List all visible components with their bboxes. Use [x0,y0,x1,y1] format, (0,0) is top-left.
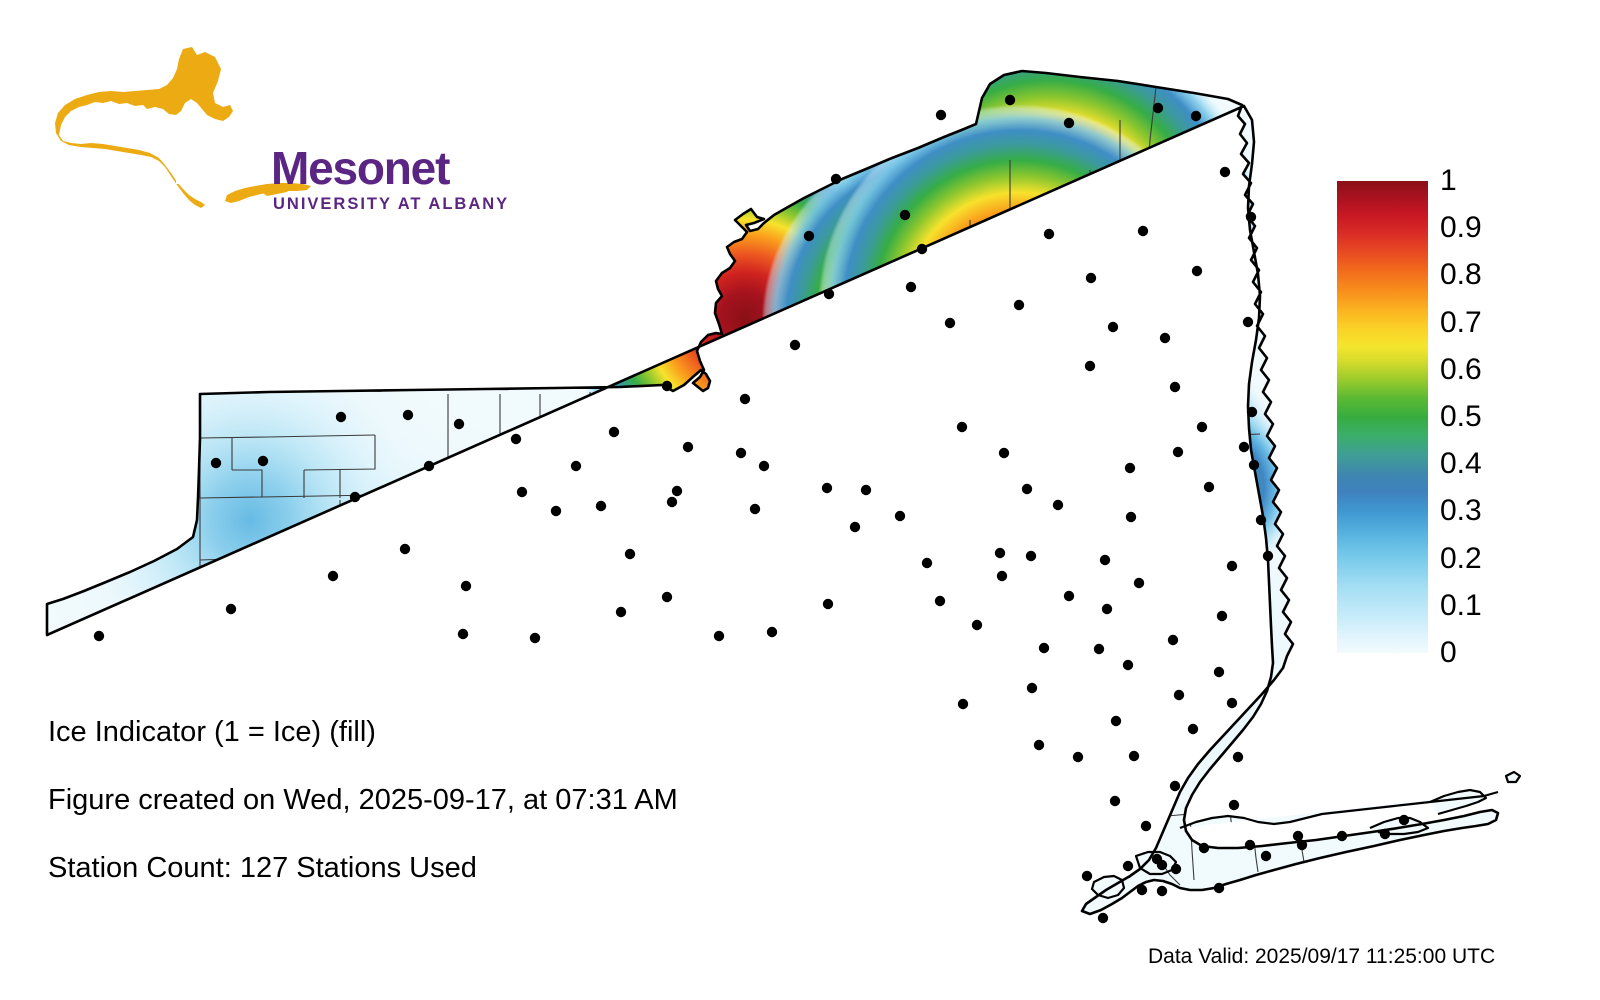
county-border [994,734,1140,740]
county-border [1172,516,1252,520]
station-marker[interactable] [1188,724,1198,734]
county-border [448,497,590,500]
station-marker[interactable] [790,340,800,350]
station-marker[interactable] [1082,871,1092,881]
station-marker[interactable] [714,631,724,641]
station-marker[interactable] [1085,361,1095,371]
station-marker[interactable] [1227,698,1237,708]
county-border [840,453,920,455]
colorbar-tick-0p6: 0.6 [1440,355,1502,385]
station-marker[interactable] [972,620,982,630]
station-marker[interactable] [662,381,672,391]
county-border [590,537,710,540]
station-marker[interactable] [999,448,1009,458]
station-marker[interactable] [1229,800,1239,810]
station-marker[interactable] [1197,422,1207,432]
station-marker[interactable] [767,627,777,637]
station-marker[interactable] [750,504,760,514]
station-marker[interactable] [1191,111,1201,121]
station-marker[interactable] [403,410,413,420]
colorbar-tick-0p4: 0.4 [1440,449,1502,479]
county-border [1094,736,1098,818]
county-border [1060,446,1064,528]
station-marker[interactable] [609,427,619,437]
station-marker[interactable] [596,501,606,511]
station-marker[interactable] [328,571,338,581]
station-marker[interactable] [683,442,693,452]
station-marker[interactable] [350,492,360,502]
station-marker[interactable] [458,629,468,639]
station-marker[interactable] [957,422,967,432]
station-marker[interactable] [759,461,769,471]
station-marker[interactable] [900,210,910,220]
heat-blob-adirondack-west [1000,250,1220,470]
station-marker[interactable] [1199,843,1209,853]
heat-blob-finger-lakes [638,258,962,582]
colorbar-tick-0p7: 0.7 [1440,308,1502,338]
station-marker[interactable] [1022,484,1032,494]
station-marker[interactable] [1247,407,1257,417]
county-border [1010,530,1014,615]
station-marker[interactable] [1153,103,1163,113]
station-marker[interactable] [517,487,527,497]
station-marker[interactable] [1245,840,1255,850]
annotation-variable-label: Ice Indicator (1 = Ice) (fill) [48,718,376,747]
station-marker[interactable] [1214,667,1224,677]
station-marker[interactable] [1026,551,1036,561]
station-marker[interactable] [1064,591,1074,601]
county-border [1140,284,1256,290]
station-marker[interactable] [824,289,834,299]
colorbar-tick-1: 1 [1440,166,1502,196]
county-border [1212,436,1215,520]
station-marker[interactable] [625,549,635,559]
station-marker[interactable] [1174,690,1184,700]
colorbar-tick-0: 0 [1440,638,1502,668]
county-border [448,458,540,460]
station-marker[interactable] [997,571,1007,581]
station-marker[interactable] [1064,118,1074,128]
station-marker[interactable] [454,419,464,429]
station-marker[interactable] [1380,829,1390,839]
station-marker[interactable] [1044,229,1054,239]
station-marker[interactable] [1297,840,1307,850]
station-marker[interactable] [850,522,860,532]
county-border [1136,608,1216,612]
station-marker[interactable] [226,604,236,614]
station-marker[interactable] [1086,273,1096,283]
station-marker[interactable] [1034,740,1044,750]
station-marker[interactable] [551,506,561,516]
station-marker[interactable] [1168,635,1178,645]
county-border [1014,524,1140,530]
station-marker[interactable] [1100,555,1110,565]
station-marker[interactable] [1108,322,1118,332]
station-marker[interactable] [1102,604,1112,614]
station-marker[interactable] [995,548,1005,558]
station-marker[interactable] [922,558,932,568]
county-border [1176,288,1180,390]
county-border [375,538,448,540]
county-border [1090,652,1094,740]
station-marker[interactable] [1157,886,1167,896]
station-marker[interactable] [1039,643,1049,653]
station-marker[interactable] [804,231,814,241]
county-border [1132,434,1260,440]
county-border [710,571,880,575]
station-marker[interactable] [895,511,905,521]
station-marker[interactable] [1263,551,1273,561]
station-marker[interactable] [336,412,346,422]
data-valid-label: Data Valid: 2025/09/17 11:25:00 UTC [1148,946,1495,967]
station-marker[interactable] [1243,317,1253,327]
station-marker[interactable] [945,318,955,328]
station-marker[interactable] [511,434,521,444]
station-marker[interactable] [1293,831,1303,841]
station-marker[interactable] [1217,611,1227,621]
station-marker[interactable] [1170,382,1180,392]
station-marker[interactable] [1129,751,1139,761]
station-marker[interactable] [424,461,434,471]
colorbar-gradient [1337,181,1428,653]
county-border [710,497,840,500]
station-marker[interactable] [571,461,581,471]
county-border [1010,609,1136,615]
station-marker[interactable] [1134,578,1144,588]
station-marker[interactable] [861,485,871,495]
county-border [1132,290,1140,440]
station-marker[interactable] [1123,861,1133,871]
station-marker[interactable] [211,458,221,468]
colorbar[interactable]: 10.90.80.70.60.50.40.30.20.10 [1337,181,1507,653]
station-marker[interactable] [1192,266,1202,276]
station-marker[interactable] [1123,660,1133,670]
county-border [1010,440,1132,446]
station-marker[interactable] [1171,864,1181,874]
station-marker[interactable] [1220,167,1230,177]
station-marker[interactable] [917,244,927,254]
station-marker[interactable] [1126,512,1136,522]
county-border [710,458,790,460]
station-marker[interactable] [400,544,410,554]
station-marker[interactable] [1141,821,1151,831]
station-marker[interactable] [1204,482,1214,492]
station-marker[interactable] [958,699,968,709]
county-border [1212,518,1216,600]
station-marker[interactable] [530,633,540,643]
county-border [1050,268,1120,270]
station-marker[interactable] [616,607,626,617]
ice-indicator-heat-field [7,2,1520,915]
station-marker[interactable] [1138,226,1148,236]
colorbar-tick-0p8: 0.8 [1440,260,1502,290]
county-border [1040,654,1044,740]
colorbar-tick-0p9: 0.9 [1440,213,1502,243]
heat-blob-mohawk [930,340,1190,600]
county-border [880,571,890,660]
station-marker[interactable] [1111,716,1121,726]
county-border [1136,524,1140,612]
colorbar-tick-0p1: 0.1 [1440,591,1502,621]
station-marker[interactable] [1227,561,1237,571]
county-border [1176,596,1258,600]
station-marker[interactable] [823,599,833,609]
heat-blob-adirondack-west [962,212,1259,509]
county-border [1172,520,1176,600]
station-marker[interactable] [1233,752,1243,762]
county-border [590,453,660,455]
station-marker[interactable] [1005,95,1015,105]
station-marker[interactable] [1399,815,1409,825]
heat-blob-western-ny [70,340,430,700]
heat-blob-mohawk [885,295,1236,646]
county-border [990,656,994,740]
station-marker[interactable] [1160,333,1170,343]
station-marker[interactable] [1214,883,1224,893]
station-marker[interactable] [1125,463,1135,473]
station-marker[interactable] [1073,752,1083,762]
colorbar-tick-0p5: 0.5 [1440,402,1502,432]
station-marker[interactable] [935,596,945,606]
annotation-station-count-label: Station Count: 127 Stations Used [48,854,477,883]
annotation-created-label: Figure created on Wed, 2025-09-17, at 07… [48,786,678,815]
county-border [1100,444,1104,526]
county-border [920,446,1010,453]
station-marker[interactable] [736,448,746,458]
colorbar-tick-0p2: 0.2 [1440,544,1502,574]
colorbar-tick-0p3: 0.3 [1440,496,1502,526]
county-border [920,367,1050,370]
county-border [1140,734,1144,818]
county-border [375,577,500,580]
station-marker[interactable] [1261,851,1271,861]
station-marker[interactable] [1137,885,1147,895]
station-marker[interactable] [1098,913,1108,923]
station-marker[interactable] [822,483,832,493]
station-marker[interactable] [1249,460,1259,470]
station-marker[interactable] [461,581,471,591]
county-border [940,692,1140,700]
county-border [500,574,600,577]
station-marker[interactable] [1173,447,1183,457]
station-marker[interactable] [1027,683,1037,693]
station-marker[interactable] [936,110,946,120]
station-marker[interactable] [740,394,750,404]
station-marker[interactable] [258,456,268,466]
station-marker[interactable] [672,486,682,496]
station-marker[interactable] [1014,300,1024,310]
station-marker[interactable] [1246,212,1256,222]
station-marker[interactable] [667,497,677,507]
station-marker[interactable] [831,174,841,184]
station-marker[interactable] [94,631,104,641]
station-marker[interactable] [1152,854,1162,864]
station-marker[interactable] [1337,831,1347,841]
station-marker[interactable] [662,592,672,602]
county-border [1136,650,1140,745]
county-border [1140,442,1144,524]
station-marker[interactable] [1110,796,1120,806]
station-marker[interactable] [1239,442,1249,452]
station-marker[interactable] [1053,500,1063,510]
station-marker[interactable] [1170,781,1180,791]
station-marker[interactable] [1256,515,1266,525]
county-border [1010,446,1014,530]
station-marker[interactable] [1094,644,1104,654]
station-marker[interactable] [906,282,916,292]
county-border [710,533,880,537]
